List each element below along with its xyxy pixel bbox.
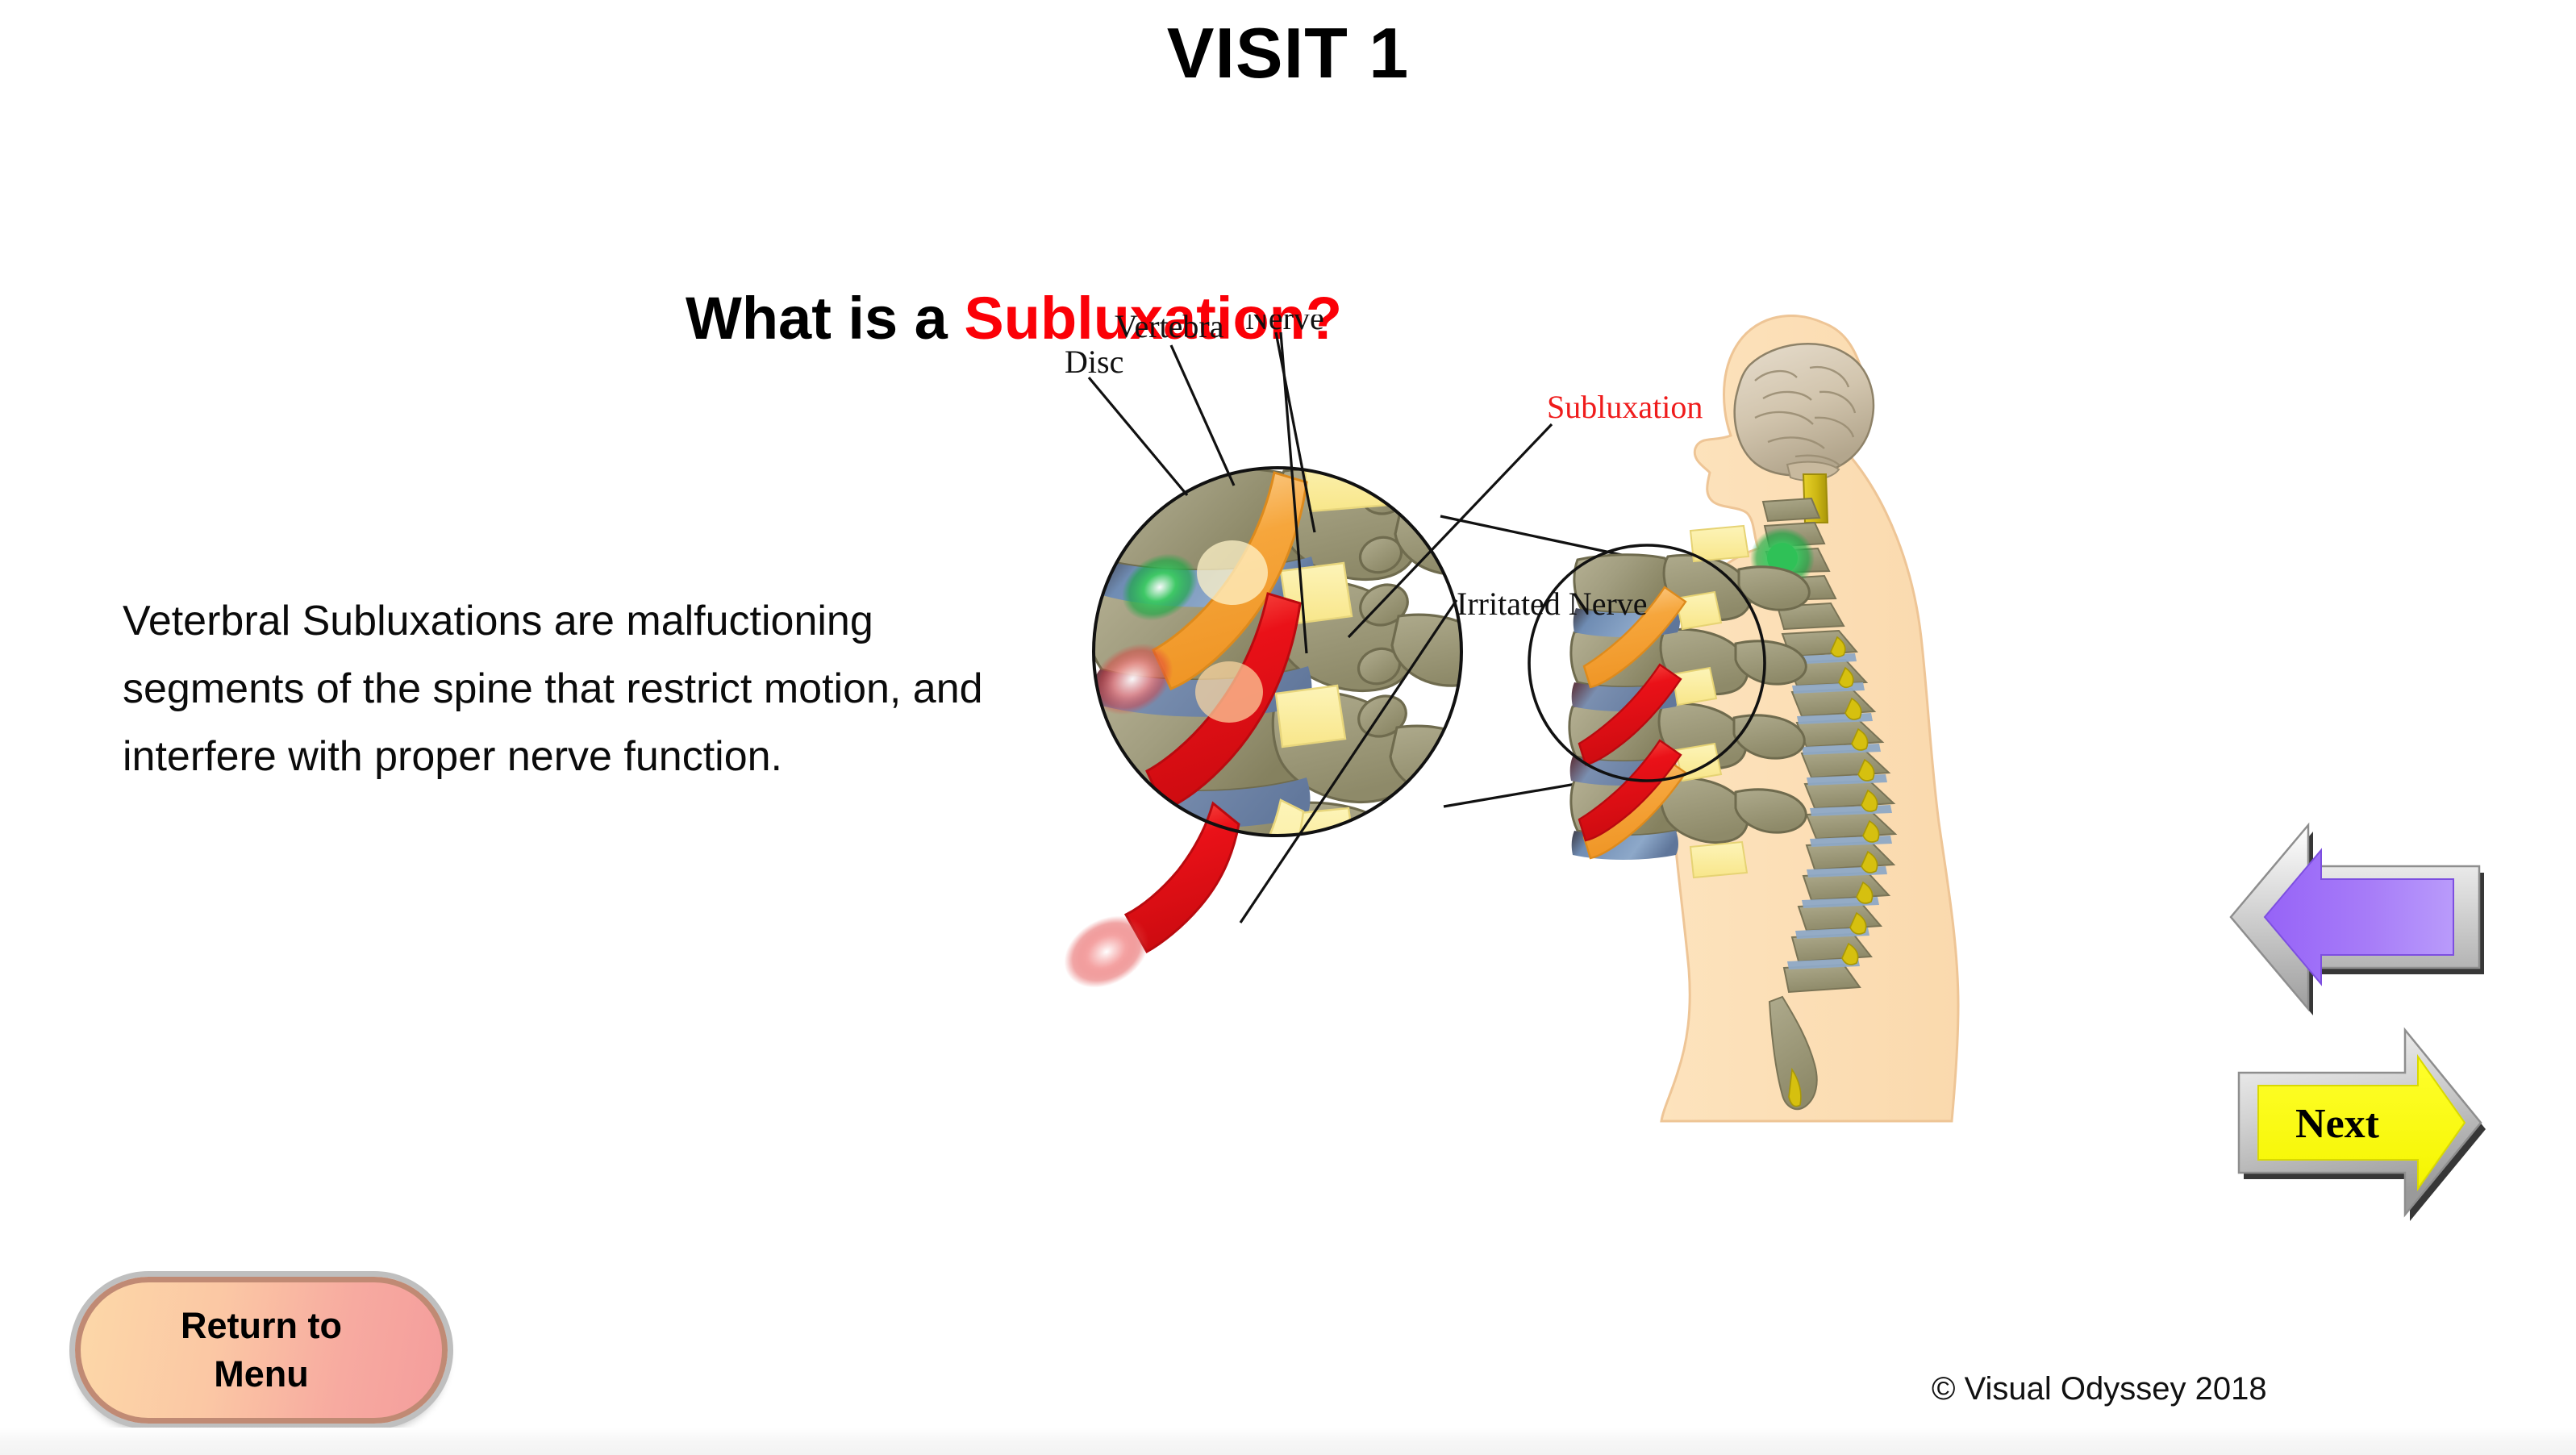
next-arrow-button[interactable]: Next: [2226, 1018, 2492, 1224]
return-to-menu-line-1: Return to: [181, 1302, 342, 1350]
magnified-vertebrae-detail: [1065, 452, 1497, 1003]
spine-subluxation-illustration: Disc Vertebra Nerve Subluxation Irritate…: [1065, 315, 2049, 1129]
label-irritated-nerve: Irritated Nerve: [1457, 586, 1648, 622]
label-disc: Disc: [1065, 344, 1123, 380]
label-nerve: Nerve: [1245, 315, 1324, 336]
label-subluxation: Subluxation: [1547, 389, 1703, 425]
headline-black-part: What is a: [686, 285, 964, 352]
return-to-menu-button[interactable]: Return to Menu: [75, 1277, 448, 1424]
bottom-edge-band: [0, 1428, 2576, 1455]
back-arrow-button[interactable]: [2226, 816, 2492, 1018]
return-to-menu-line-2: Menu: [214, 1350, 309, 1399]
page-title: VISIT 1: [0, 16, 2576, 90]
label-vertebra: Vertebra: [1115, 315, 1224, 344]
next-arrow-label: Next: [2295, 1101, 2380, 1147]
copyright-notice: © Visual Odyssey 2018: [1932, 1371, 2267, 1407]
body-paragraph: Veterbral Subluxations are malfuctioning…: [123, 587, 1058, 791]
